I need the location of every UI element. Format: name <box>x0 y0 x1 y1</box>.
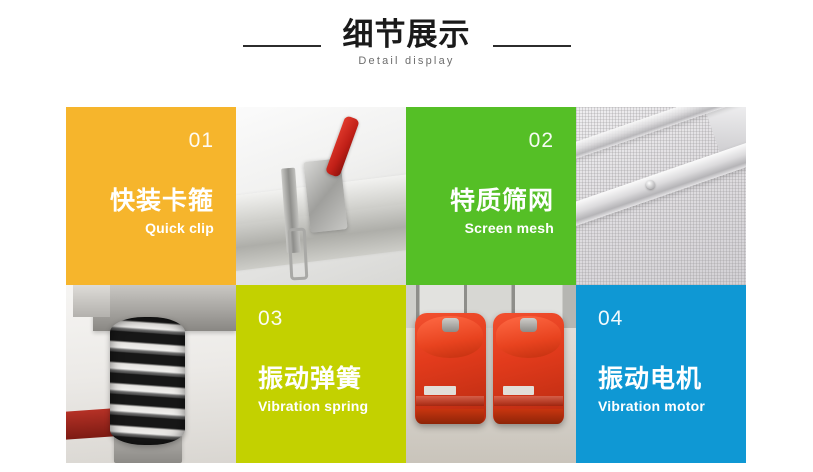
tile-title-cn-01: 快装卡箍 <box>110 186 214 216</box>
tile-number-02: 02 <box>529 129 554 153</box>
tile-title-en-02: Screen mesh <box>465 220 554 237</box>
photo-vibration-spring <box>66 285 236 463</box>
motor-hub-left <box>442 318 459 332</box>
motor-unit-left <box>415 313 486 423</box>
spring-upper-plate <box>73 285 110 317</box>
motor-foot-right <box>494 409 563 423</box>
motor-foot-left <box>416 409 485 423</box>
tile-title-cn-03: 振动弹簧 <box>258 364 362 394</box>
tile-number-04: 04 <box>598 307 623 331</box>
tile-title-en-01: Quick clip <box>145 220 214 237</box>
detail-tile-03[interactable]: 03 振动弹簧 Vibration spring <box>236 285 406 463</box>
tile-title-en-03: Vibration spring <box>258 398 368 415</box>
clamp-red-handle <box>325 115 360 177</box>
tile-number-03: 03 <box>258 307 283 331</box>
header-rule-left <box>243 45 321 47</box>
section-header: 细节展示 Detail display <box>0 18 813 90</box>
detail-tile-02[interactable]: 02 特质筛网 Screen mesh <box>406 107 576 285</box>
motor-band-right <box>494 396 563 406</box>
motor-band-left <box>416 396 485 406</box>
tile-title-cn-02: 特质筛网 <box>450 186 554 216</box>
motor-unit-right <box>493 313 564 423</box>
page-subtitle: Detail display <box>358 55 454 68</box>
header-rule-right <box>493 45 571 47</box>
motor-plate-left <box>424 386 455 395</box>
tile-title-en-04: Vibration motor <box>598 398 705 415</box>
detail-grid: 01 快装卡箍 Quick clip 02 特质筛网 Screen mesh 0… <box>66 107 746 463</box>
tile-title-cn-04: 振动电机 <box>598 364 702 394</box>
tile-number-01: 01 <box>189 129 214 153</box>
photo-quick-clip <box>236 107 406 285</box>
clamp-link-shape <box>287 228 308 281</box>
detail-tile-04[interactable]: 04 振动电机 Vibration motor <box>576 285 746 463</box>
photo-screen-mesh <box>576 107 746 285</box>
spring-coil-shape <box>110 317 185 445</box>
header-title-block: 细节展示 Detail display <box>343 18 471 68</box>
detail-tile-01[interactable]: 01 快装卡箍 Quick clip <box>66 107 236 285</box>
page-title: 细节展示 <box>343 18 471 52</box>
mesh-screw-icon <box>646 180 655 189</box>
motor-hub-right <box>520 318 537 332</box>
photo-vibration-motors <box>406 285 576 463</box>
motor-plate-right <box>503 386 534 395</box>
